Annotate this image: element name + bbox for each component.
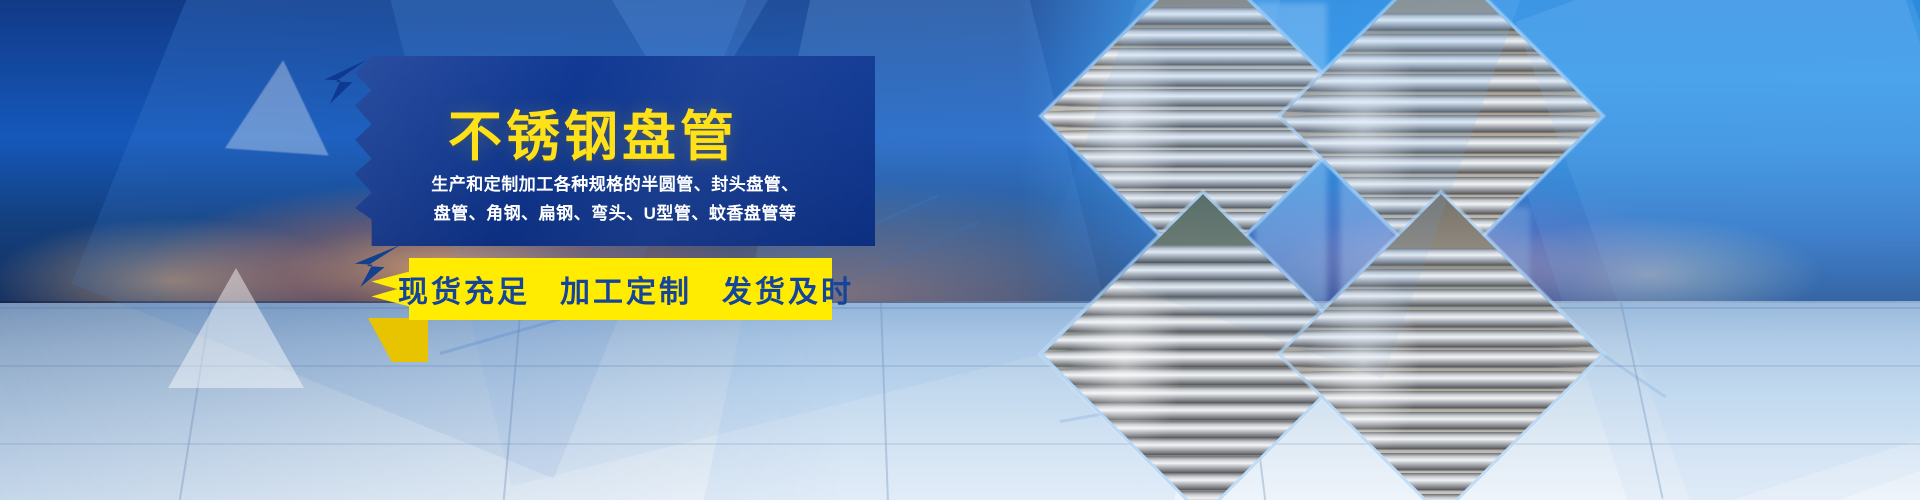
feature-item-1: 现货充足 <box>398 267 530 311</box>
feature-item-3: 发货及时 <box>722 267 854 311</box>
plaza-tile-lines <box>0 303 1920 500</box>
page-title: 不锈钢盘管 <box>448 92 738 171</box>
subtitle-line-1: 生产和定制加工各种规格的半圆管、封头盘管、 <box>400 170 830 195</box>
feature-ribbon-text: 现货充足 加工定制 发货及时 <box>362 258 832 320</box>
subtitle-line-2: 盘管、角钢、扁钢、弯头、U型管、蚊香盘管等 <box>400 199 830 224</box>
feature-item-2: 加工定制 <box>560 267 692 311</box>
product-hero-banner: 不锈钢盘管 生产和定制加工各种规格的半圆管、封头盘管、 盘管、角钢、扁钢、弯头、… <box>0 0 1920 500</box>
product-photo-diamond-grid <box>1035 0 1615 500</box>
photo-tile-coil-4 <box>1277 190 1605 500</box>
